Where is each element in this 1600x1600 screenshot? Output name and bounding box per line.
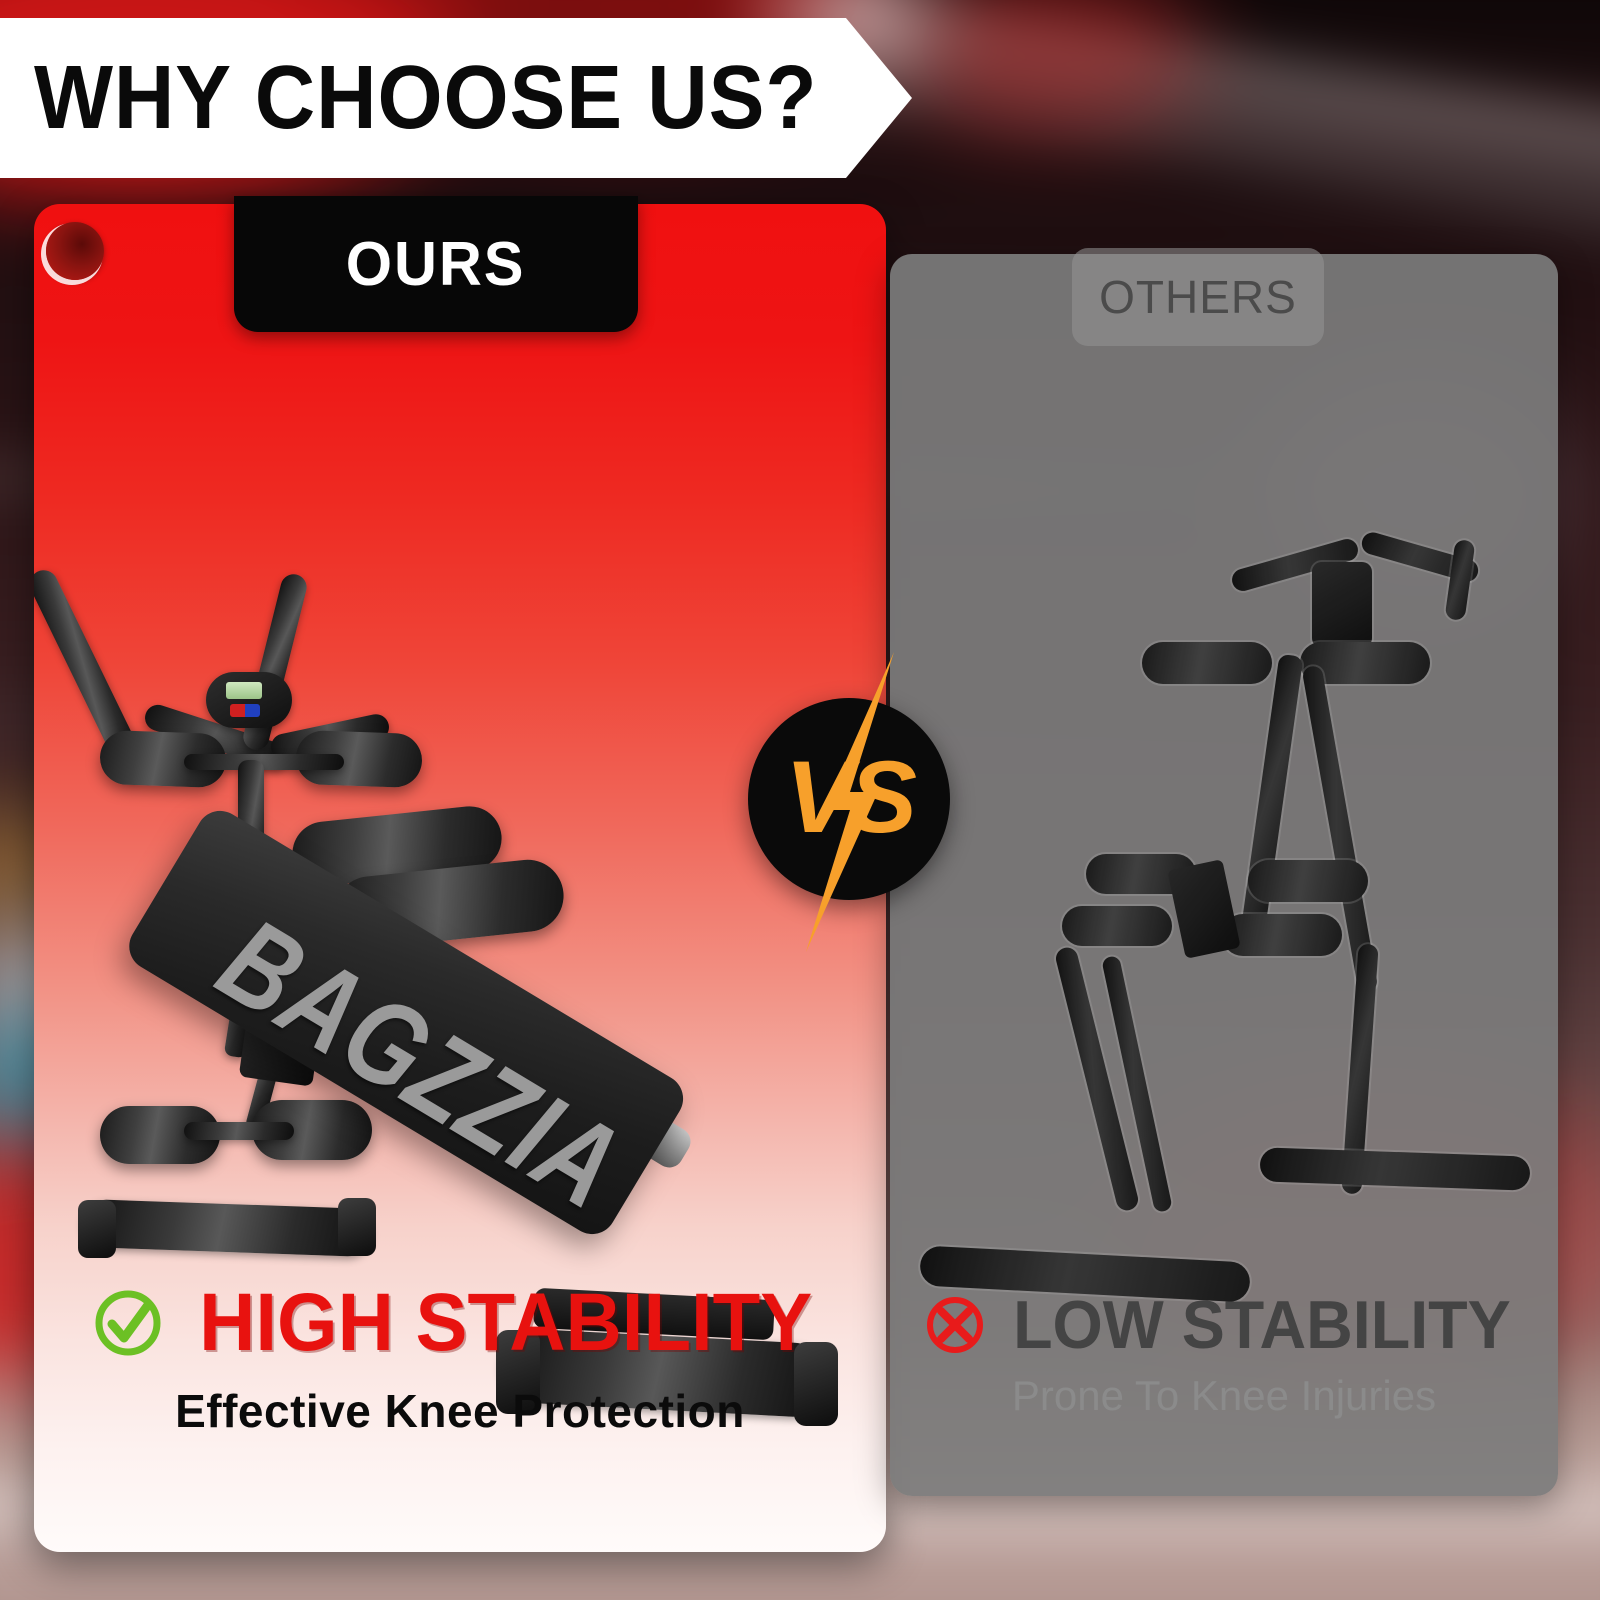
check-circle-icon <box>91 1286 165 1360</box>
page-title: WHY CHOOSE US? <box>34 53 817 143</box>
versus-badge: VS <box>748 698 950 900</box>
ours-label-panel: HIGH STABILITY Effective Knee Protection <box>34 1248 886 1552</box>
knee-roller-bar <box>184 1122 294 1140</box>
lcd-monitor <box>206 672 292 728</box>
ours-badge-label: OURS <box>346 229 526 300</box>
competitor-knee-roller-right <box>1248 860 1368 902</box>
card-punch-hole <box>46 222 104 280</box>
competitor-knee-roller-left-lower <box>1062 906 1172 946</box>
competitor-monitor <box>1312 562 1372 648</box>
roller-crossbar <box>184 754 344 770</box>
header-banner: WHY CHOOSE US? <box>0 18 912 178</box>
lcd-screen <box>226 682 262 699</box>
others-label-panel: LOW STABILITY Prone To Knee Injuries <box>890 1268 1558 1496</box>
competitor-knee-roller-right-lower <box>1222 914 1342 956</box>
others-headline: LOW STABILITY <box>1013 1286 1511 1364</box>
others-product-image <box>890 254 1558 1354</box>
ours-headline: HIGH STABILITY <box>199 1276 812 1370</box>
competitor-base-bar-rear <box>1259 1147 1530 1190</box>
others-badge-label: OTHERS <box>1099 270 1297 324</box>
others-subline: Prone To Knee Injuries <box>1012 1372 1436 1420</box>
x-circle-icon <box>924 1294 986 1356</box>
versus-label: VS <box>748 696 950 898</box>
others-headline-row: LOW STABILITY <box>924 1286 1524 1364</box>
others-badge: OTHERS <box>1072 248 1324 346</box>
ours-badge: OURS <box>234 196 638 332</box>
competitor-brand-plate <box>1167 859 1240 959</box>
competitor-roller-upper-left <box>1142 642 1272 684</box>
ours-headline-row: HIGH STABILITY <box>91 1276 828 1370</box>
ours-subline: Effective Knee Protection <box>175 1384 745 1438</box>
monitor-indicator <box>230 704 260 717</box>
comparison-graphic: WHY CHOOSE US? <box>0 0 1600 1600</box>
